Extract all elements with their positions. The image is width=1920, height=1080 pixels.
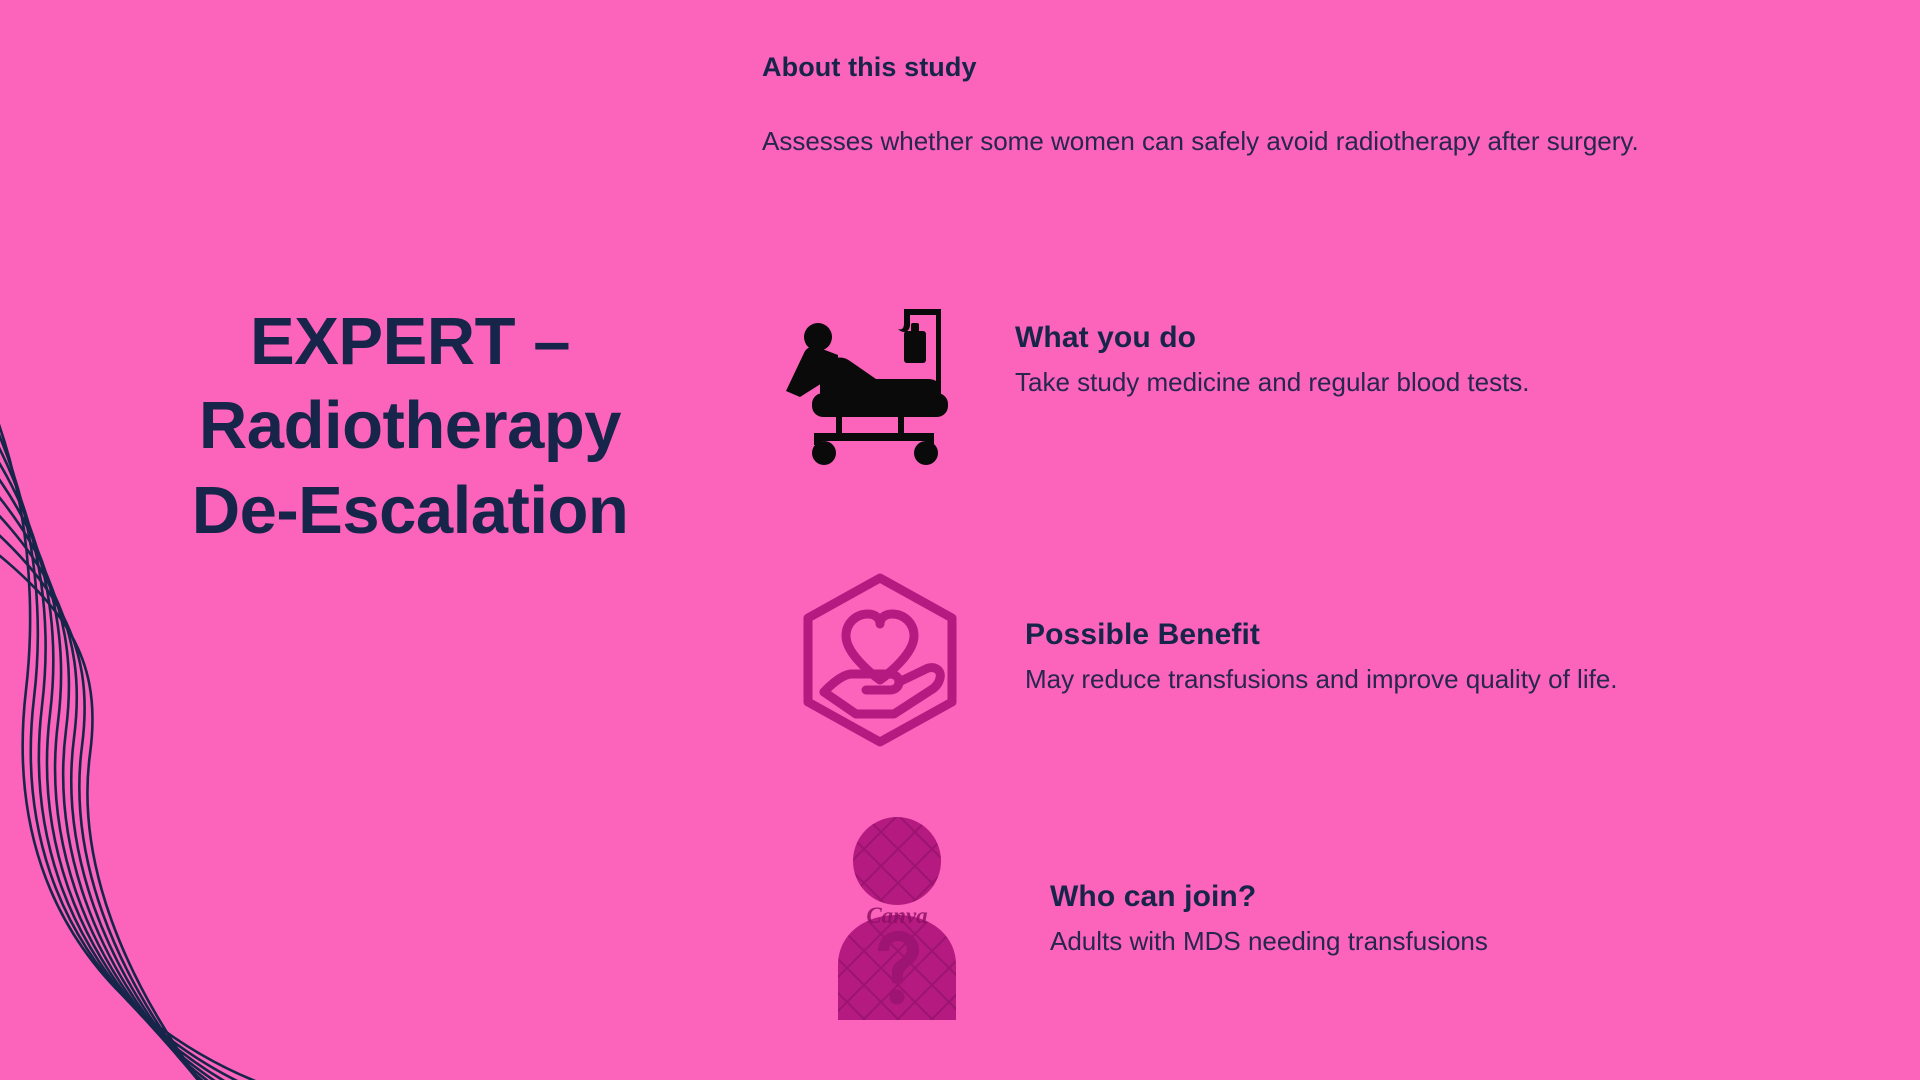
infographic-slide: EXPERT – Radiotherapy De-Escalation Abou… (0, 0, 1920, 1080)
feature-row-what-you-do: What you do Take study medicine and regu… (780, 295, 1530, 465)
feature-description: May reduce transfusions and improve qual… (1025, 662, 1618, 697)
title-line-2: Radiotherapy (60, 384, 760, 468)
person-question-mark-icon: Canva (830, 815, 965, 1020)
title-line-1: EXPERT – (60, 300, 760, 384)
feature-row-possible-benefit: Possible Benefit May reduce transfusions… (790, 570, 1618, 750)
feature-text-possible-benefit: Possible Benefit May reduce transfusions… (1025, 570, 1618, 697)
about-section: About this study Assesses whether some w… (762, 52, 1772, 161)
page-title: EXPERT – Radiotherapy De-Escalation (60, 300, 760, 553)
about-body-text: Assesses whether some women can safely a… (762, 123, 1752, 161)
about-heading: About this study (762, 52, 1772, 83)
canva-watermark: Canva (866, 903, 927, 928)
feature-title: What you do (1015, 321, 1530, 355)
feature-title: Possible Benefit (1025, 618, 1618, 652)
feature-description: Take study medicine and regular blood te… (1015, 365, 1530, 400)
heart-in-hand-hexagon-icon (790, 570, 970, 750)
feature-row-who-can-join: Canva Who can join? Adults with MDS need… (830, 815, 1488, 1020)
feature-text-who-can-join: Who can join? Adults with MDS needing tr… (1050, 815, 1488, 959)
title-line-3: De-Escalation (60, 469, 760, 553)
feature-description: Adults with MDS needing transfusions (1050, 924, 1488, 959)
hospital-bed-iv-icon (780, 295, 970, 465)
feature-text-what-you-do: What you do Take study medicine and regu… (1015, 295, 1530, 400)
feature-title: Who can join? (1050, 880, 1488, 914)
